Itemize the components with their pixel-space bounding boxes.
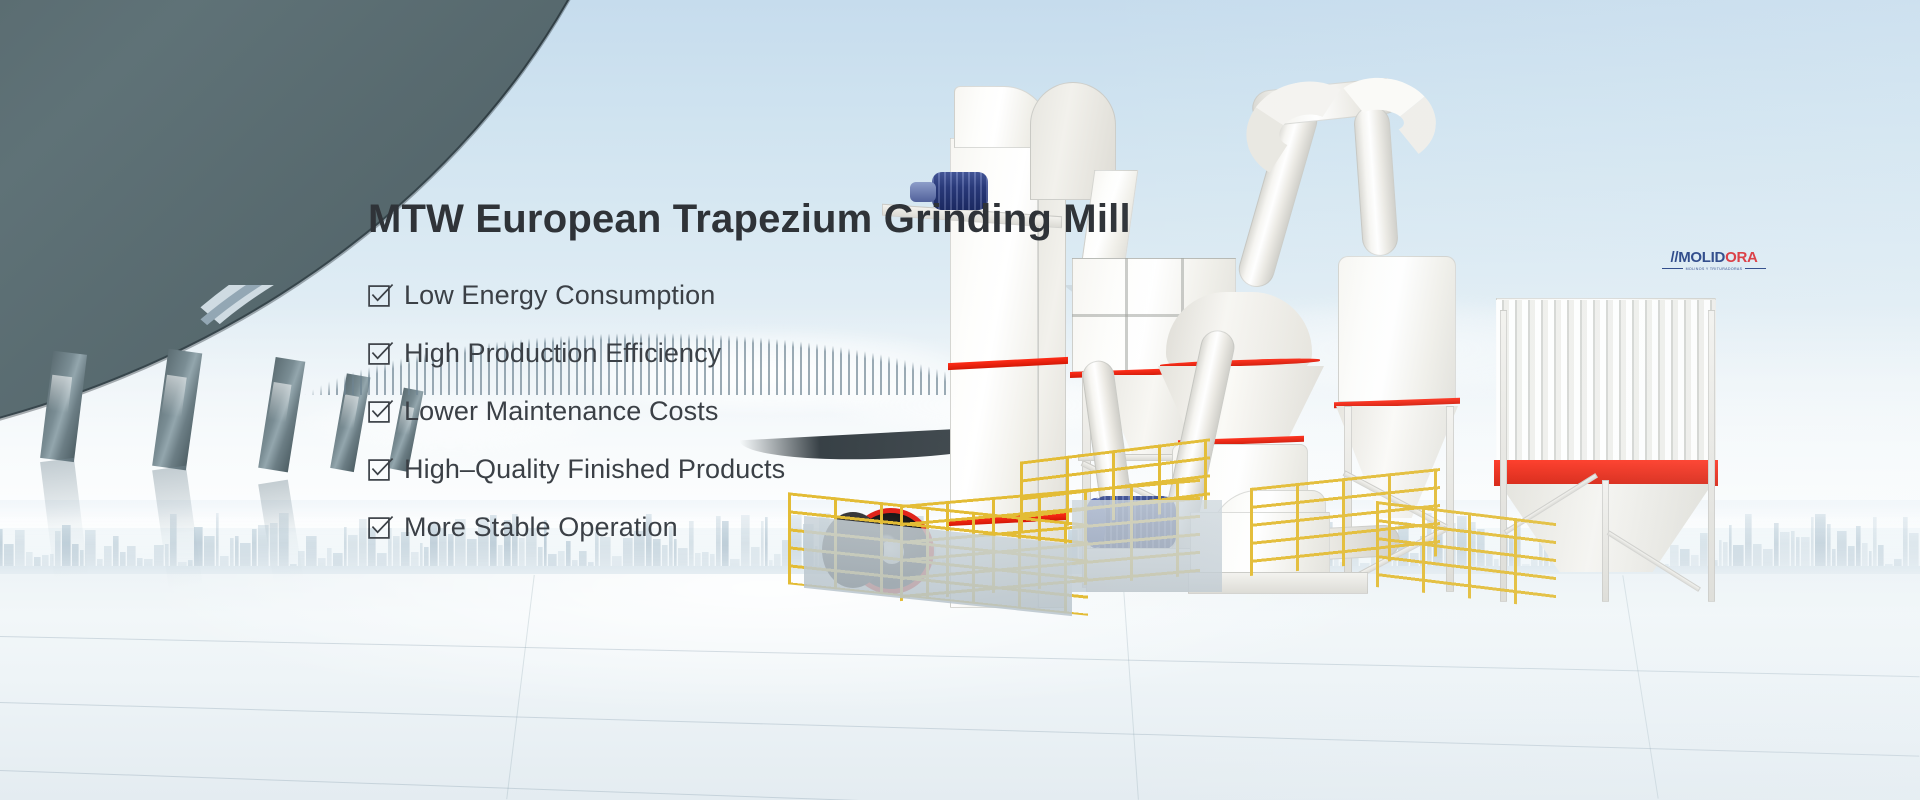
filter-support-leg: [1602, 480, 1609, 602]
checkbox-checked-icon: [368, 459, 390, 481]
feature-item: Lower Maintenance Costs: [368, 396, 1148, 427]
hero-banner: //MOLIDORA MOLINOS Y TRITURADORAS MTW Eu…: [0, 0, 1920, 800]
feature-item: High–Quality Finished Products: [368, 454, 1148, 485]
logo-olid: OLID: [1690, 249, 1725, 266]
logo-tagline: MOLINOS Y TRITURADORAS: [1686, 268, 1743, 272]
banner-content: MTW European Trapezium Grinding Mill Low…: [368, 196, 1148, 543]
logo-m: M: [1678, 249, 1690, 266]
page-title: MTW European Trapezium Grinding Mill: [368, 196, 1148, 242]
feature-list: Low Energy ConsumptionHigh Production Ef…: [368, 280, 1148, 543]
filter-support-leg: [1708, 310, 1715, 602]
feature-label: Lower Maintenance Costs: [404, 396, 718, 427]
checkbox-checked-icon: [368, 401, 390, 423]
feature-label: More Stable Operation: [404, 512, 678, 543]
feature-label: High–Quality Finished Products: [404, 454, 785, 485]
feature-item: Low Energy Consumption: [368, 280, 1148, 311]
molidora-logo: //MOLIDORA MOLINOS Y TRITURADORAS: [1662, 250, 1766, 272]
logo-o: O: [1725, 249, 1736, 266]
feature-label: Low Energy Consumption: [404, 280, 715, 311]
feature-label: High Production Efficiency: [404, 338, 721, 369]
feature-item: High Production Efficiency: [368, 338, 1148, 369]
logo-rule: MOLINOS Y TRITURADORAS: [1662, 266, 1766, 272]
logo-ra: RA: [1736, 249, 1757, 266]
logo-wordmark: //MOLIDORA: [1662, 250, 1766, 265]
checkbox-checked-icon: [368, 517, 390, 539]
cyclone-separator: [1338, 256, 1456, 402]
feature-item: More Stable Operation: [368, 512, 1148, 543]
checkbox-checked-icon: [368, 343, 390, 365]
filter-ribs: [1496, 300, 1716, 460]
checkbox-checked-icon: [368, 285, 390, 307]
